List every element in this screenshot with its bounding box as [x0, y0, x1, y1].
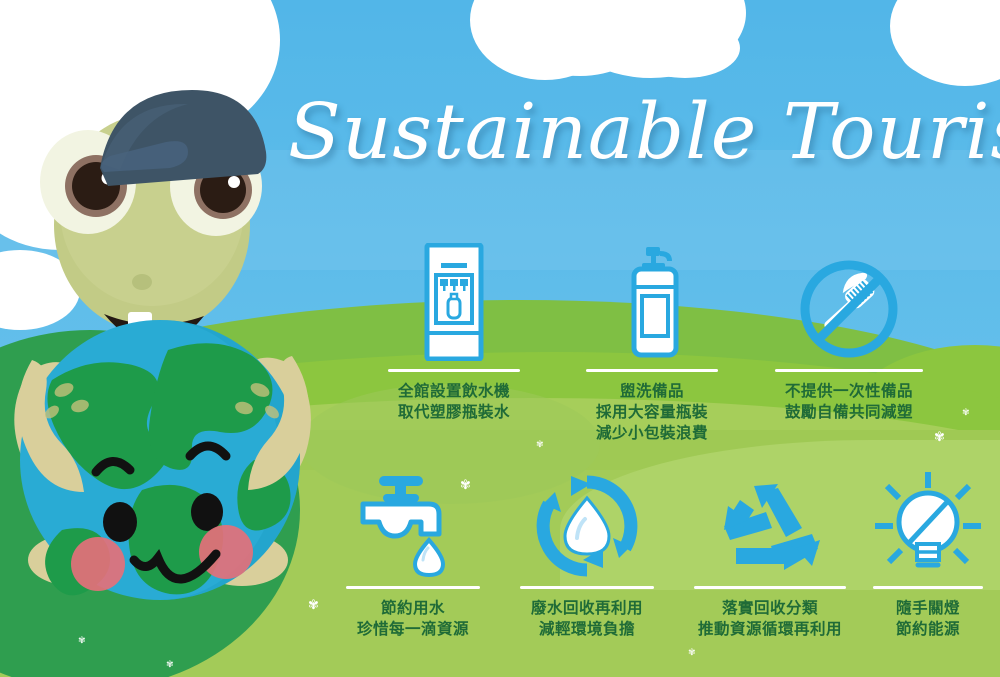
sustainable-tourism-poster: ✾ ✾ ✾ ✾ ✾ ✾ ✾ ✾ Sustainable Tourism: [0, 0, 1000, 677]
caption-line: 減少小包裝浪費: [556, 423, 748, 444]
water-dispenser-icon: [358, 243, 550, 361]
flower-icon: ✾: [934, 430, 945, 443]
divider: [346, 586, 480, 589]
caption-line: 取代塑膠瓶裝水: [358, 402, 550, 423]
caption-line: 盥洗備品: [556, 381, 748, 402]
divider: [775, 369, 923, 372]
water-recycle-icon: [492, 466, 682, 578]
caption-line: 減輕環境負擔: [492, 619, 682, 640]
item-caption: 隨手關燈 節約能源: [848, 598, 1000, 640]
item-caption: 盥洗備品 採用大容量瓶裝 減少小包裝浪費: [556, 381, 748, 444]
lightbulb-off-icon: [848, 466, 1000, 578]
divider: [694, 586, 846, 589]
pump-bottle-icon: [556, 243, 748, 361]
no-toothbrush-icon: [744, 243, 954, 361]
turtle-mascot-with-earth: [0, 60, 352, 620]
item-caption: 廢水回收再利用 減輕環境負擔: [492, 598, 682, 640]
item-light: 隨手關燈 節約能源: [848, 466, 1000, 640]
caption-line: 採用大容量瓶裝: [556, 402, 748, 423]
divider: [520, 586, 654, 589]
divider: [388, 369, 520, 372]
caption-line: 全館設置飲水機: [358, 381, 550, 402]
recycle-triangle-icon: [660, 466, 880, 578]
flower-icon: ✾: [166, 660, 174, 669]
caption-line: 廢水回收再利用: [492, 598, 682, 619]
item-recycle: 落實回收分類 推動資源循環再利用: [660, 466, 880, 640]
item-disposable: 不提供一次性備品 鼓勵自備共同減塑: [744, 243, 954, 423]
caption-line: 推動資源循環再利用: [660, 619, 880, 640]
item-caption: 節約用水 珍惜每一滴資源: [318, 598, 508, 640]
item-caption: 落實回收分類 推動資源循環再利用: [660, 598, 880, 640]
item-savewater: 節約用水 珍惜每一滴資源: [318, 466, 508, 640]
flower-icon: ✾: [688, 648, 696, 657]
caption-line: 節約能源: [848, 619, 1000, 640]
page-title: Sustainable Tourism: [288, 88, 988, 180]
item-amenity: 盥洗備品 採用大容量瓶裝 減少小包裝浪費: [556, 243, 748, 444]
item-reuse: 廢水回收再利用 減輕環境負擔: [492, 466, 682, 640]
item-caption: 不提供一次性備品 鼓勵自備共同減塑: [744, 381, 954, 423]
item-dispenser: 全館設置飲水機 取代塑膠瓶裝水: [358, 243, 550, 423]
caption-line: 節約用水: [318, 598, 508, 619]
caption-line: 隨手關燈: [848, 598, 1000, 619]
flower-icon: ✾: [536, 440, 544, 449]
flower-icon: ✾: [962, 408, 970, 417]
flower-icon: ✾: [78, 636, 86, 645]
caption-line: 鼓勵自備共同減塑: [744, 402, 954, 423]
caption-line: 不提供一次性備品: [744, 381, 954, 402]
caption-line: 珍惜每一滴資源: [318, 619, 508, 640]
divider: [873, 586, 983, 589]
caption-line: 落實回收分類: [660, 598, 880, 619]
faucet-drip-icon: [318, 466, 508, 578]
item-caption: 全館設置飲水機 取代塑膠瓶裝水: [358, 381, 550, 423]
divider: [586, 369, 718, 372]
